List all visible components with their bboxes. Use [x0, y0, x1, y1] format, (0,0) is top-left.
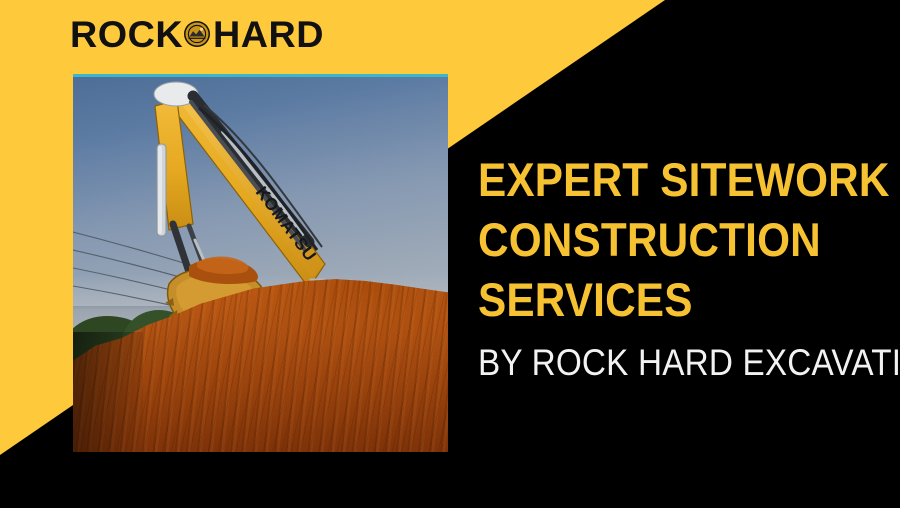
headline-line-2: CONSTRUCTION	[478, 210, 842, 270]
rock-hard-badge-icon	[183, 20, 211, 48]
headline-line-1: EXPERT SITEWORK	[478, 150, 842, 210]
dirt-shadow	[73, 332, 143, 452]
logo-word-hard: HARD	[213, 16, 324, 53]
photo-top-accent-line	[73, 74, 448, 77]
copy-block: EXPERT SITEWORK CONSTRUCTION SERVICES BY…	[478, 150, 882, 384]
page-title: EXPERT SITEWORK CONSTRUCTION SERVICES	[478, 150, 842, 330]
brand-logo[interactable]: ROCK HARD	[70, 14, 322, 54]
logo-word-rock: ROCK	[70, 16, 183, 53]
headline-line-3: SERVICES	[478, 270, 842, 330]
promo-banner: ROCK HARD	[0, 0, 900, 508]
photo-scene: KOMATSU	[73, 74, 448, 452]
hero-photo: KOMATSU	[73, 74, 448, 452]
subheadline: BY ROCK HARD EXCAVATING	[478, 342, 842, 384]
